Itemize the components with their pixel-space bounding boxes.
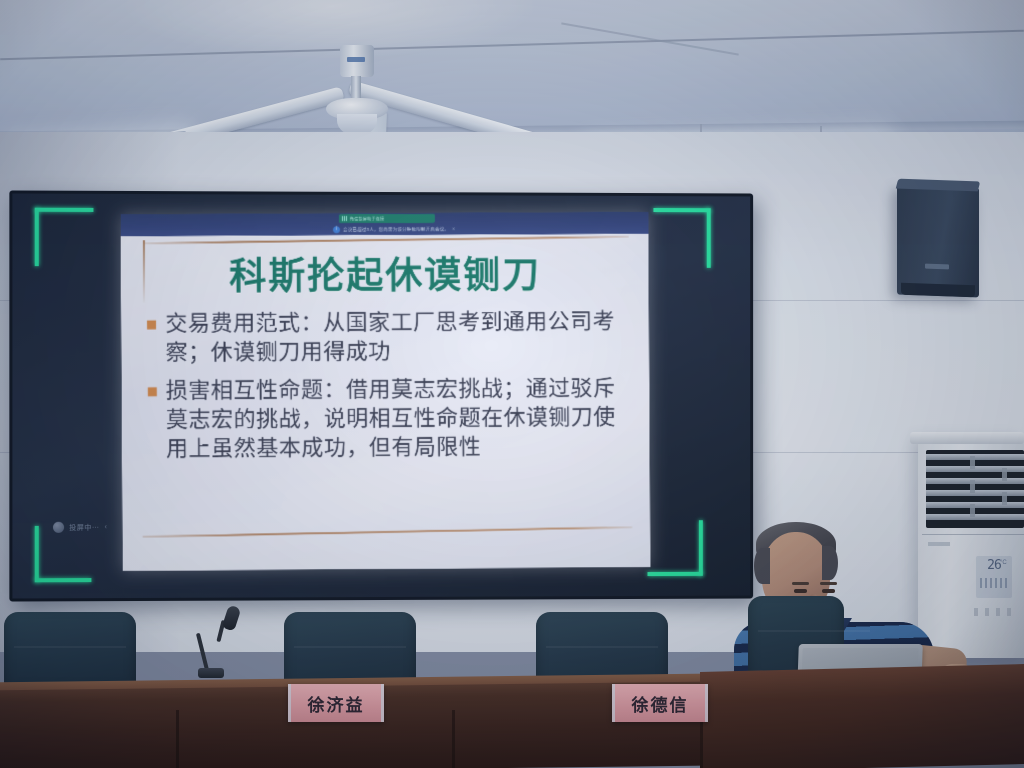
wall-mounted-flat-panel[interactable]: 投屏中⋯ ‹ 微信投屏助手连接 i 会议已超过3人，您尚需为该分钟数限制开启会议… <box>9 190 753 601</box>
ac-button-row[interactable] <box>974 608 1014 616</box>
slide-accent-bottom-rule <box>143 526 633 538</box>
desk-panel-seam <box>452 710 455 768</box>
ac-hood <box>910 432 1024 444</box>
slide-accent-top-rule <box>143 236 629 245</box>
speaker-base <box>901 283 975 298</box>
calibration-marker-top-left <box>35 208 94 267</box>
presenter-brow-left <box>792 582 809 585</box>
fan-motor <box>340 45 374 77</box>
calibration-marker-top-right <box>653 208 710 268</box>
bullet-text: 交易费用范式：从国家工厂思考到通用公司考察；休谟铡刀用得成功 <box>165 308 631 369</box>
presentation-slide[interactable]: 微信投屏助手连接 i 会议已超过3人，您尚需为该分钟数限制开启会议。 × 科斯抡… <box>120 212 650 571</box>
list-item: 损害相互性命题：借用莫志宏挑战；通过驳斥莫志宏的挑战，说明相互性命题在休谟铡刀使… <box>148 375 632 465</box>
speaker-bracket <box>896 179 980 192</box>
bullet-marker-icon <box>147 320 156 329</box>
chevron-left-icon[interactable]: ‹ <box>105 524 107 531</box>
ac-temperature-unit: °C <box>1000 560 1007 566</box>
nameplate-text: 徐济益 <box>308 691 365 716</box>
fan-brand-label <box>347 57 365 62</box>
desk-front-panel-right <box>700 664 1024 768</box>
bullet-text: 损害相互性命题：借用莫志宏挑战；通过驳斥莫志宏的挑战，说明相互性命题在休谟铡刀使… <box>166 375 632 465</box>
cast-status-pill: 微信投屏助手连接 <box>339 214 435 223</box>
slide-bullet-list: 交易费用范式：从国家工厂思考到通用公司考察；休谟铡刀用得成功 损害相互性命题：借… <box>147 308 632 474</box>
screen-cast-widget[interactable]: 投屏中⋯ ‹ <box>53 522 107 533</box>
desk-panel-seam <box>176 710 179 768</box>
cast-icon <box>342 216 348 221</box>
meeting-notice-text: 会议已超过3人，您尚需为该分钟数限制开启会议。 <box>343 226 449 232</box>
close-icon[interactable]: × <box>452 226 455 232</box>
list-item: 交易费用范式：从国家工厂思考到通用公司考察；休谟铡刀用得成功 <box>147 308 631 369</box>
display-screen[interactable]: 投屏中⋯ ‹ 微信投屏助手连接 i 会议已超过3人，您尚需为该分钟数限制开启会议… <box>12 194 750 599</box>
presenter-eye-right <box>822 589 835 593</box>
nameplate: 徐德信 <box>612 684 708 722</box>
meeting-notice: i 会议已超过3人，您尚需为该分钟数限制开启会议。 × <box>333 225 455 235</box>
app-icon <box>53 522 64 533</box>
ac-display-panel: 26 °C <box>976 556 1012 598</box>
presenter-brow-right <box>820 582 837 585</box>
presenter-eye-left <box>794 589 807 593</box>
info-icon: i <box>333 226 340 233</box>
nameplate-text: 徐德信 <box>632 691 689 716</box>
screen-cast-widget-label: 投屏中⋯ <box>69 522 99 532</box>
ac-indicator-dots <box>980 578 1008 588</box>
cast-status-label: 微信投屏助手连接 <box>350 216 384 222</box>
slide-title: 科斯抡起休谟铡刀 <box>121 244 649 301</box>
microphone-base <box>198 668 224 678</box>
calibration-marker-bottom-right <box>648 520 703 576</box>
presenter-hair-right <box>822 546 838 580</box>
calibration-marker-bottom-left <box>35 526 92 583</box>
nameplate: 徐济益 <box>288 684 384 722</box>
presenter-hair-left <box>754 548 770 584</box>
ac-vent <box>926 450 1024 528</box>
classroom-scene: 26 °C 投屏中⋯ ‹ 微信投屏助 <box>0 0 1024 768</box>
speaker-brand-badge <box>925 264 949 270</box>
bullet-marker-icon <box>148 387 157 396</box>
wall-speaker <box>897 185 979 298</box>
slide-notification-bar: 微信投屏助手连接 i 会议已超过3人，您尚需为该分钟数限制开启会议。 × <box>120 212 648 236</box>
